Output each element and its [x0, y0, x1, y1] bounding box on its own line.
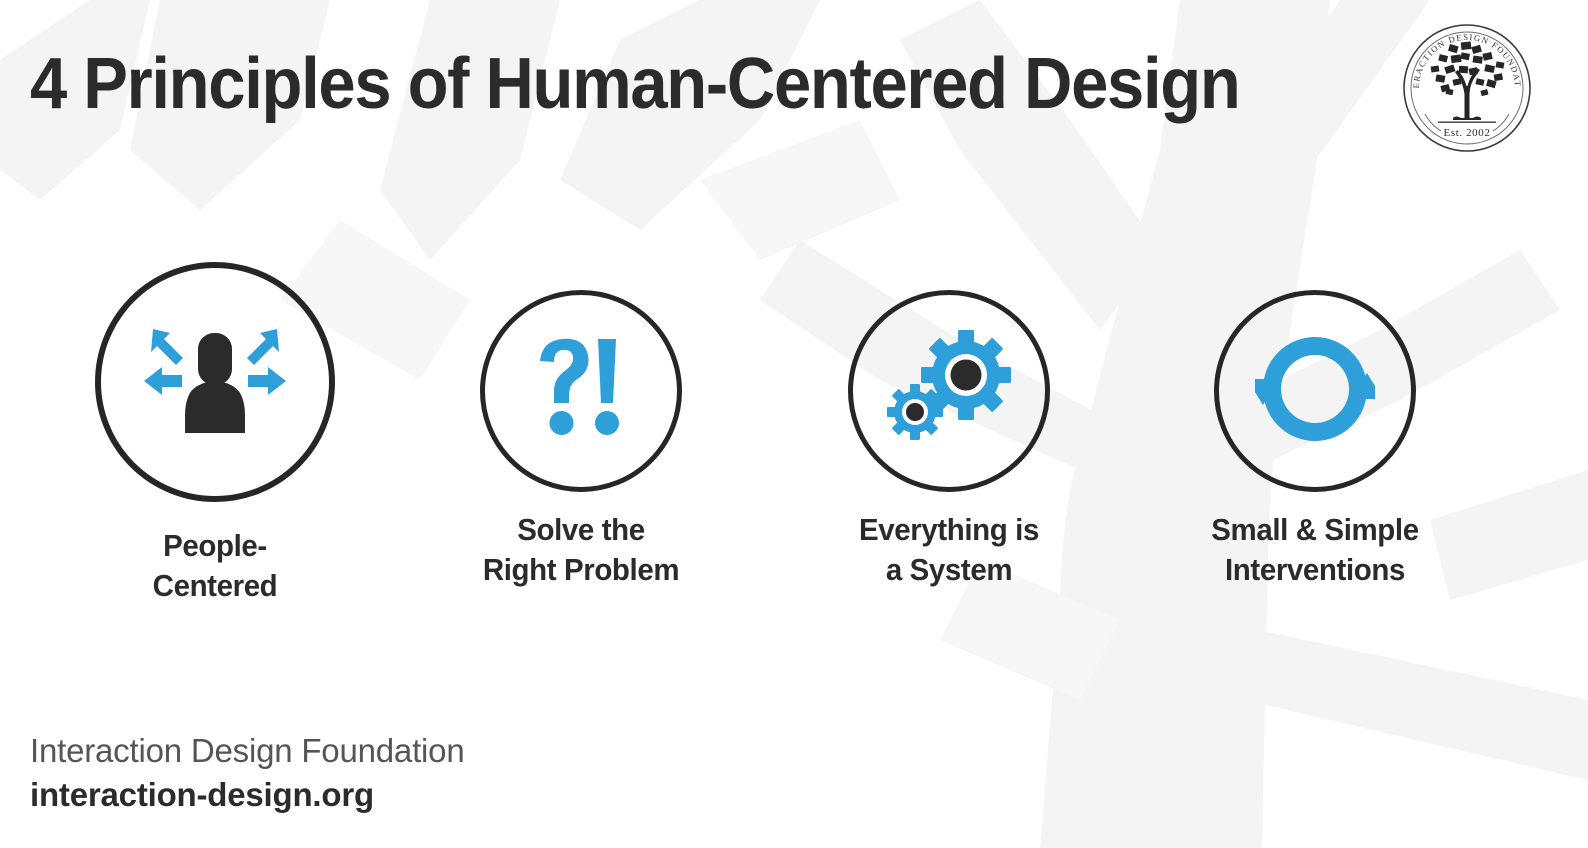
principle-label: Solve the Right Problem: [439, 510, 724, 589]
principle-item-people-centered: People-Centered: [95, 262, 335, 605]
logo-established-text: Est. 2002: [1444, 127, 1491, 139]
principle-icon-circle: [1214, 290, 1416, 492]
principle-icon-circle: [848, 290, 1050, 492]
principle-item-everything-is-a-system: Everything is a System: [848, 290, 1050, 589]
principle-icon-circle: [95, 262, 335, 502]
interaction-design-foundation-logo: INTERACTION DESIGN FOUNDATION: [1401, 22, 1533, 154]
principle-label: Everything is a System: [807, 510, 1092, 589]
tree-emblem: [1431, 41, 1505, 120]
principle-label: Small & Simple Interventions: [1173, 510, 1458, 589]
slide-canvas: 4 Principles of Human-Centered Design IN…: [0, 0, 1588, 848]
principles-row: People-Centered: [0, 262, 1588, 622]
principle-item-small-simple-interventions: Small & Simple Interventions: [1214, 290, 1416, 589]
footer-url[interactable]: interaction-design.org: [30, 773, 464, 818]
question-exclamation-icon: [526, 333, 636, 450]
footer: Interaction Design Foundation interactio…: [30, 729, 464, 818]
person-with-inward-arrows-icon: [140, 315, 290, 450]
principle-icon-circle: [480, 290, 682, 492]
gears-icon: [882, 329, 1016, 454]
page-title: 4 Principles of Human-Centered Design: [30, 48, 1230, 120]
footer-organization: Interaction Design Foundation: [30, 729, 464, 774]
circular-arrows-refresh-icon: [1255, 329, 1375, 454]
principle-label: People-Centered: [101, 526, 329, 605]
principle-item-solve-right-problem: Solve the Right Problem: [480, 290, 682, 589]
